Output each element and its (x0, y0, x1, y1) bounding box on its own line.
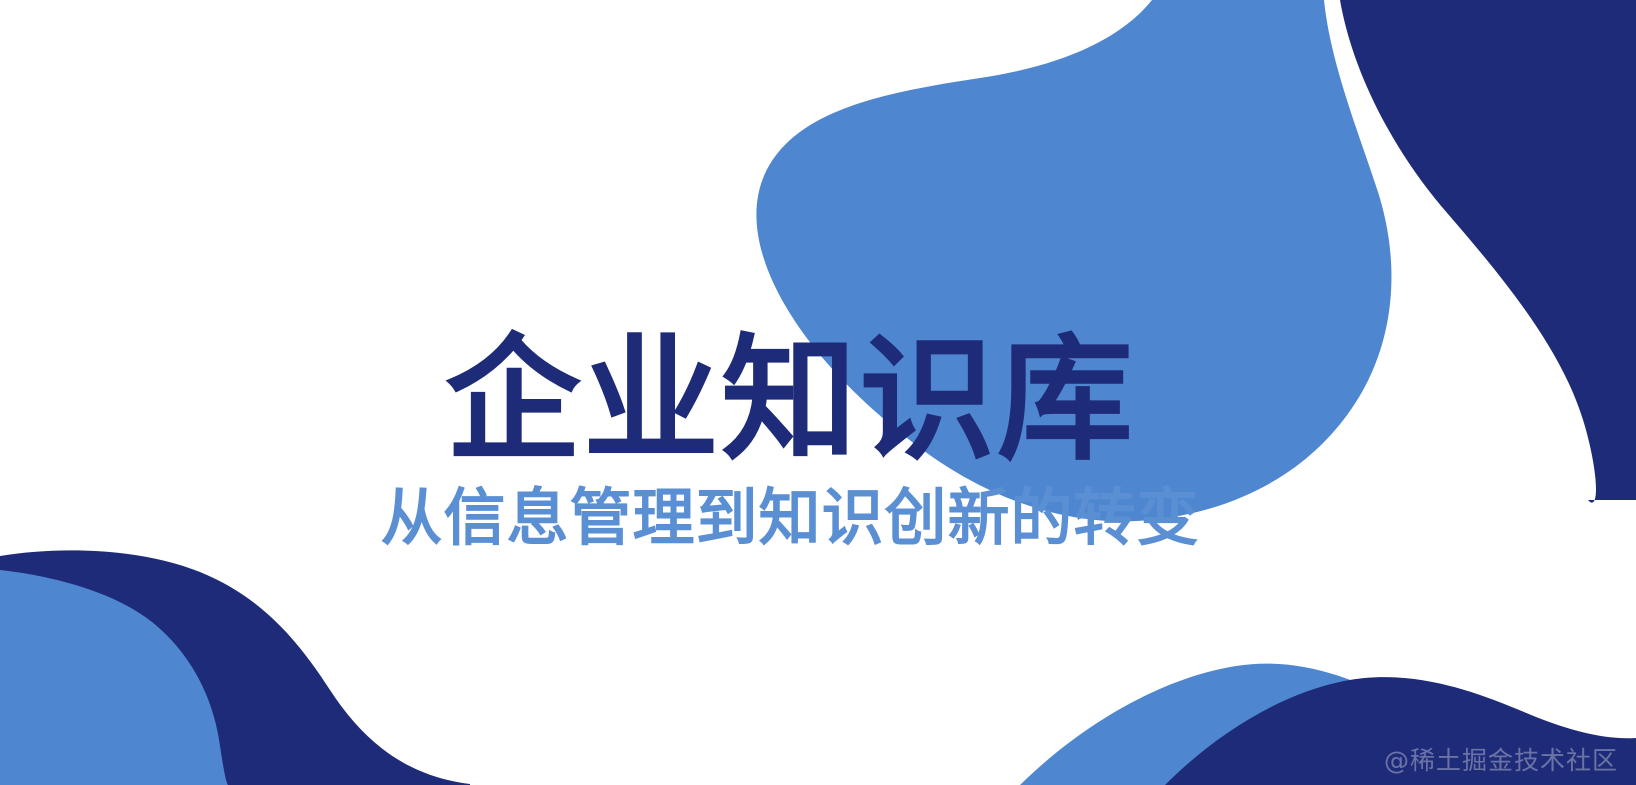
slide-content: 企业知识库 从信息管理到知识创新的转变 (0, 0, 1636, 785)
page-title: 企业知识库 (0, 331, 1580, 470)
page-subtitle: 从信息管理到知识创新的转变 (0, 483, 1580, 554)
cover-slide: 企业知识库 从信息管理到知识创新的转变 @稀土掘金技术社区 (0, 0, 1636, 785)
watermark-label: @稀土掘金技术社区 (1384, 741, 1618, 777)
